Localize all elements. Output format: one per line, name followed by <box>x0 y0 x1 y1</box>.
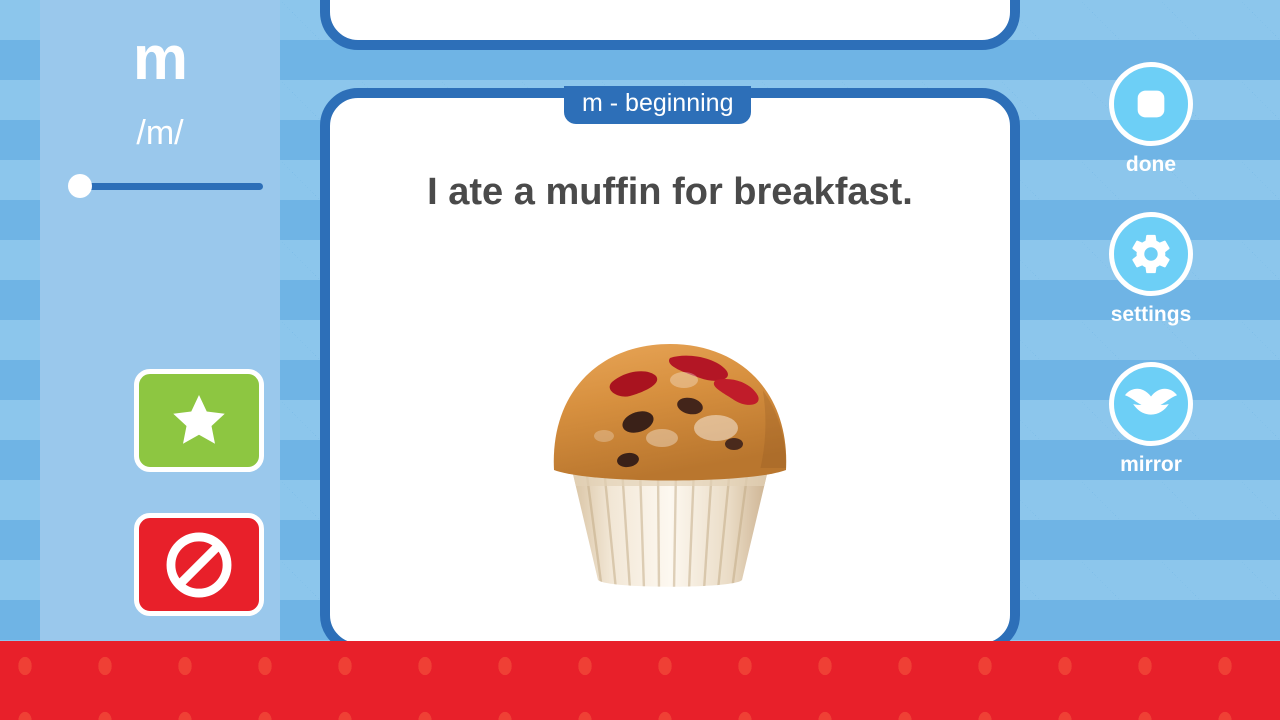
done-button-circle[interactable] <box>1109 62 1193 146</box>
card-badge: m - beginning <box>564 86 751 124</box>
muffin-image <box>520 318 820 598</box>
app-root: m /m/ m - beginning I <box>0 0 1280 720</box>
footer-strip <box>0 641 1280 720</box>
lips-icon <box>1125 384 1177 424</box>
card-sentence: I ate a muffin for breakfast. <box>378 170 962 215</box>
phoneme-notation: /m/ <box>40 116 280 150</box>
settings-button-circle[interactable] <box>1109 212 1193 296</box>
mirror-label: mirror <box>1101 454 1201 475</box>
correct-button[interactable] <box>134 369 264 472</box>
done-label: done <box>1101 154 1201 175</box>
progress-slider-thumb[interactable] <box>68 174 92 198</box>
mirror-button[interactable]: mirror <box>1101 362 1201 475</box>
progress-slider-track <box>78 183 263 190</box>
mirror-button-circle[interactable] <box>1109 362 1193 446</box>
settings-button[interactable]: settings <box>1101 212 1201 325</box>
phoneme-panel: m /m/ <box>40 0 280 641</box>
phoneme-letter: m <box>40 28 280 90</box>
gear-icon <box>1128 231 1174 277</box>
previous-card[interactable] <box>320 0 1020 50</box>
progress-slider[interactable] <box>58 174 263 198</box>
done-button[interactable]: done <box>1101 62 1201 175</box>
star-icon <box>168 391 230 451</box>
settings-label: settings <box>1101 304 1201 325</box>
stop-square-icon <box>1131 84 1171 124</box>
flashcard[interactable]: m - beginning I ate a muffin for breakfa… <box>320 88 1020 653</box>
no-entry-icon <box>166 532 232 598</box>
reject-button[interactable] <box>134 513 264 616</box>
